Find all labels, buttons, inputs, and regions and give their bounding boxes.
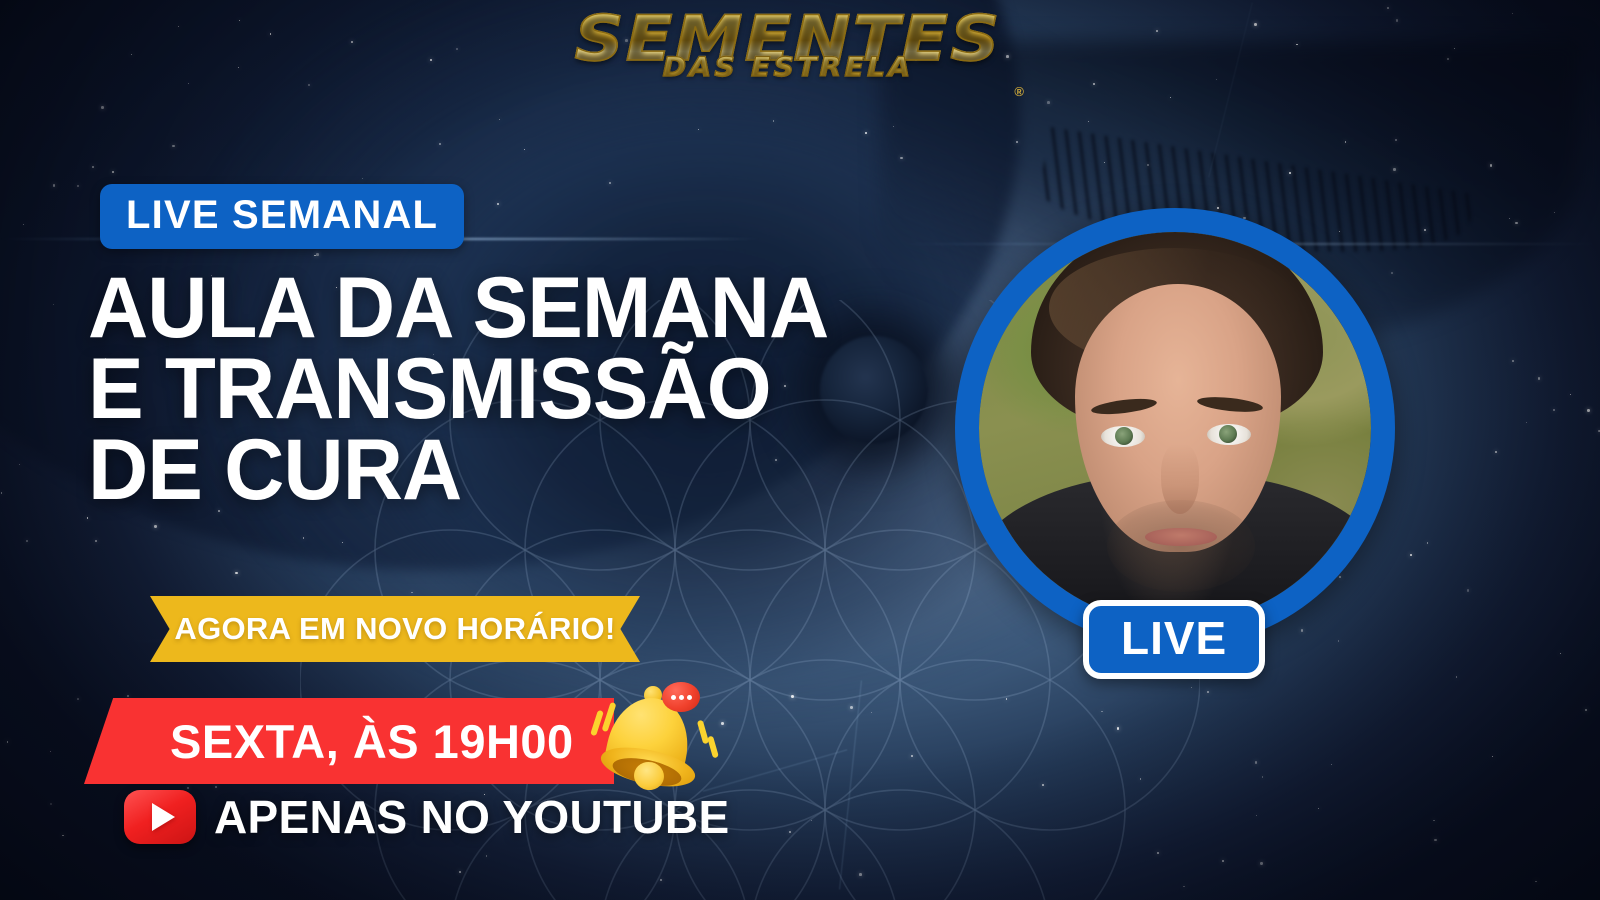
new-schedule-label: AGORA EM NOVO HORÁRIO! (174, 611, 615, 647)
youtube-play-icon[interactable] (124, 790, 196, 844)
headline-line-3: DE CURA (88, 430, 828, 511)
portrait-iris (1219, 425, 1237, 443)
platform-row[interactable]: APENAS NO YOUTUBE (124, 790, 729, 844)
play-triangle-icon (152, 803, 175, 831)
portrait-lips (1145, 528, 1217, 546)
trademark-icon: ® (1014, 85, 1024, 98)
headline-line-1: AULA DA SEMANA (88, 268, 828, 349)
badge-dot (679, 695, 684, 700)
page-title: AULA DA SEMANA E TRANSMISSÃO DE CURA (88, 268, 851, 510)
portrait-iris (1115, 427, 1133, 445)
bell-motion-line (590, 710, 604, 737)
badge-dot (687, 695, 692, 700)
bell-motion-line (707, 736, 719, 759)
notification-bell-icon (588, 676, 718, 796)
new-schedule-ribbon: AGORA EM NOVO HORÁRIO! (150, 596, 640, 662)
host-avatar (955, 208, 1395, 648)
headline-line-2: E TRANSMISSÃO (88, 349, 828, 430)
weekly-live-badge: LIVE SEMANAL (100, 184, 464, 249)
promo-poster: SEMENTES DAS ESTRELA ® LIVE SEMANAL AULA… (0, 0, 1600, 900)
platform-label: APENAS NO YOUTUBE (214, 794, 729, 840)
host-portrait (979, 232, 1371, 624)
portrait-nose (1161, 444, 1199, 514)
live-badge: LIVE (1083, 600, 1265, 679)
brand-logo-sub: DAS ESTRELA (536, 54, 1040, 81)
brand-logo: SEMENTES DAS ESTRELA ® (548, 8, 1028, 108)
schedule-label: SEXTA, ÀS 19H00 (170, 718, 574, 765)
badge-dot (671, 695, 676, 700)
schedule-banner: SEXTA, ÀS 19H00 (84, 698, 614, 784)
bell-notification-badge (662, 682, 700, 712)
